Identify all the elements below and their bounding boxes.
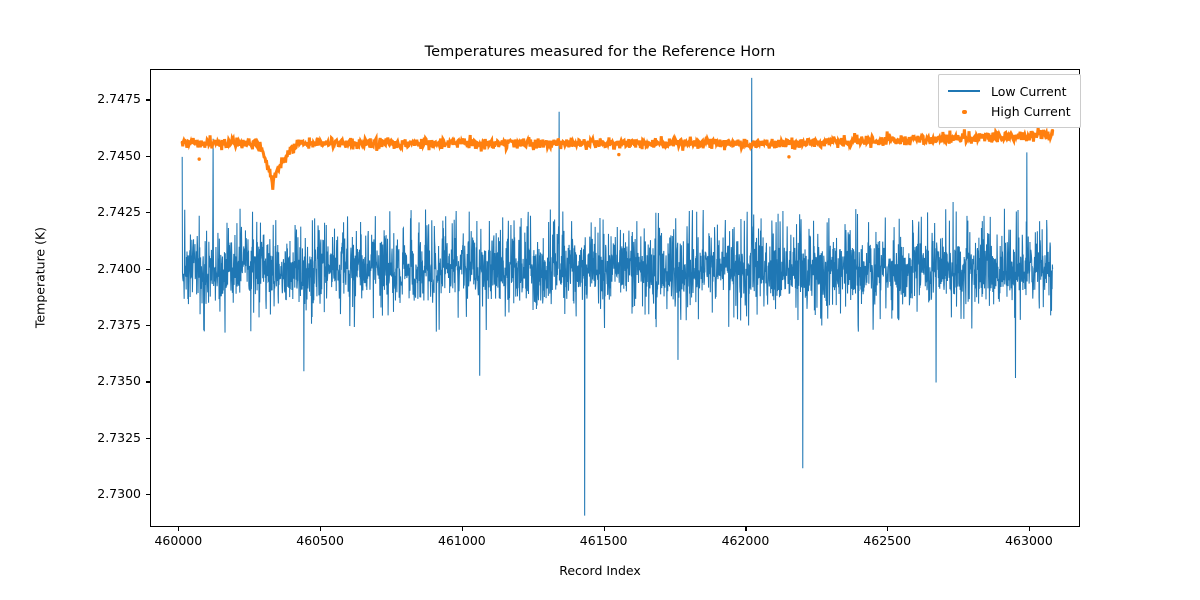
x-tick-mark bbox=[320, 527, 321, 531]
x-tick-label: 461000 bbox=[438, 533, 486, 548]
chart-legend[interactable]: Low Current High Current bbox=[938, 74, 1081, 128]
plot-canvas bbox=[151, 70, 1080, 527]
legend-item-low-current[interactable]: Low Current bbox=[946, 81, 1071, 101]
x-tick-mark bbox=[1029, 527, 1030, 531]
x-tick-mark bbox=[462, 527, 463, 531]
y-tick-label: 2.7475 bbox=[97, 91, 141, 106]
legend-line-icon bbox=[948, 90, 980, 92]
chart-title: Temperatures measured for the Reference … bbox=[0, 44, 1200, 60]
x-tick-label: 462500 bbox=[863, 533, 911, 548]
y-tick-label: 2.7350 bbox=[97, 373, 141, 388]
legend-label-low-current: Low Current bbox=[991, 84, 1067, 99]
x-tick-label: 460000 bbox=[154, 533, 202, 548]
y-tick-label: 2.7325 bbox=[97, 430, 141, 445]
y-tick-label: 2.7300 bbox=[97, 486, 141, 501]
y-tick-label: 2.7375 bbox=[97, 317, 141, 332]
high-current-outlier-point bbox=[198, 157, 201, 160]
high-current-outlier-point bbox=[787, 155, 790, 158]
x-tick-label: 462000 bbox=[722, 533, 770, 548]
plot-area bbox=[150, 69, 1080, 527]
legend-item-high-current[interactable]: High Current bbox=[946, 101, 1071, 121]
x-axis-tick-labels: 4600004605004610004615004620004625004630… bbox=[0, 533, 1200, 553]
legend-dot-icon bbox=[962, 110, 967, 115]
x-tick-label: 460500 bbox=[296, 533, 344, 548]
y-tick-label: 2.7400 bbox=[97, 261, 141, 276]
series-high-current bbox=[182, 128, 1052, 190]
x-axis-label: Record Index bbox=[0, 563, 1200, 578]
y-tick-label: 2.7425 bbox=[97, 204, 141, 219]
legend-label-high-current: High Current bbox=[991, 104, 1071, 119]
x-tick-mark bbox=[178, 527, 179, 531]
legend-line-swatch bbox=[946, 84, 982, 98]
legend-dot-swatch bbox=[946, 104, 982, 118]
y-axis-label: Temperature (K) bbox=[33, 178, 48, 378]
high-current-outlier-point bbox=[617, 153, 620, 156]
x-tick-mark bbox=[745, 527, 746, 531]
x-tick-label: 461500 bbox=[580, 533, 628, 548]
chart-figure: Temperatures measured for the Reference … bbox=[0, 0, 1200, 600]
y-tick-label: 2.7450 bbox=[97, 148, 141, 163]
x-tick-label: 463000 bbox=[1005, 533, 1053, 548]
y-axis-tick-labels: 2.73002.73252.73502.73752.74002.74252.74… bbox=[58, 0, 141, 600]
x-tick-mark bbox=[887, 527, 888, 531]
x-tick-mark bbox=[604, 527, 605, 531]
high-current-scatter-band bbox=[182, 128, 1052, 190]
